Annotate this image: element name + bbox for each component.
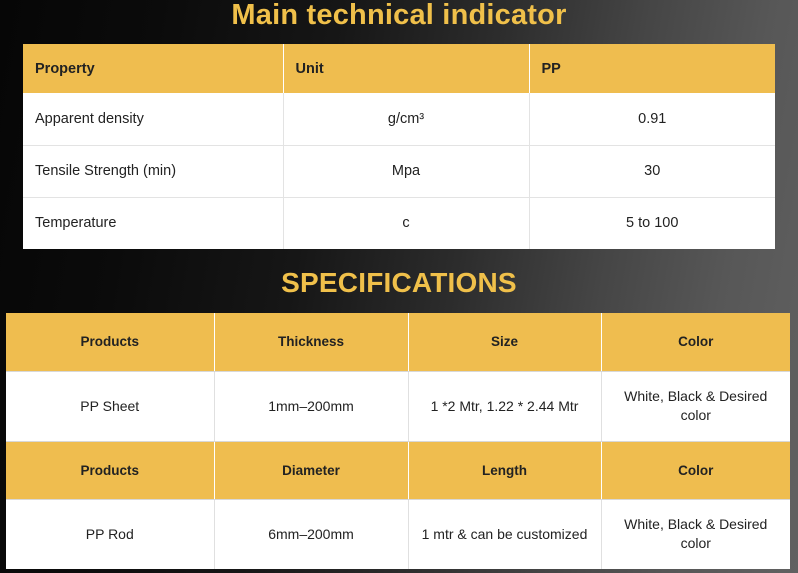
cell-unit: Mpa xyxy=(283,145,529,197)
cell-length: 1 mtr & can be customized xyxy=(408,499,601,569)
specifications-table-container: Products Thickness Size Color PP Sheet 1… xyxy=(6,313,790,569)
cell-pp: 30 xyxy=(529,145,775,197)
column-header-property: Property xyxy=(23,44,283,93)
table-row: Temperature c 5 to 100 xyxy=(23,197,775,249)
column-header-length: Length xyxy=(408,441,601,499)
column-header-products: Products xyxy=(6,313,214,371)
technical-indicator-table-container: Property Unit PP Apparent density g/cm³ … xyxy=(23,44,775,249)
table-header-row: Property Unit PP xyxy=(23,44,775,93)
cell-property: Apparent density xyxy=(23,93,283,145)
cell-unit: c xyxy=(283,197,529,249)
specifications-table: Products Thickness Size Color PP Sheet 1… xyxy=(6,313,790,569)
cell-pp: 5 to 100 xyxy=(529,197,775,249)
cell-product: PP Sheet xyxy=(6,371,214,441)
column-header-size: Size xyxy=(408,313,601,371)
technical-indicator-table: Property Unit PP Apparent density g/cm³ … xyxy=(23,44,775,249)
table-header-row-sheet: Products Thickness Size Color xyxy=(6,313,790,371)
column-header-diameter: Diameter xyxy=(214,441,408,499)
cell-thickness: 1mm–200mm xyxy=(214,371,408,441)
table-header-row-rod: Products Diameter Length Color xyxy=(6,441,790,499)
column-header-thickness: Thickness xyxy=(214,313,408,371)
cell-diameter: 6mm–200mm xyxy=(214,499,408,569)
column-header-color: Color xyxy=(601,313,790,371)
table-row: Tensile Strength (min) Mpa 30 xyxy=(23,145,775,197)
cell-size: 1 *2 Mtr, 1.22 * 2.44 Mtr xyxy=(408,371,601,441)
column-header-color: Color xyxy=(601,441,790,499)
cell-property: Temperature xyxy=(23,197,283,249)
table-row: PP Sheet 1mm–200mm 1 *2 Mtr, 1.22 * 2.44… xyxy=(6,371,790,441)
column-header-pp: PP xyxy=(529,44,775,93)
column-header-unit: Unit xyxy=(283,44,529,93)
cell-unit: g/cm³ xyxy=(283,93,529,145)
page-title-specifications: SPECIFICATIONS xyxy=(0,255,798,307)
table-row: PP Rod 6mm–200mm 1 mtr & can be customiz… xyxy=(6,499,790,569)
cell-product: PP Rod xyxy=(6,499,214,569)
cell-pp: 0.91 xyxy=(529,93,775,145)
table-row: Apparent density g/cm³ 0.91 xyxy=(23,93,775,145)
cell-property: Tensile Strength (min) xyxy=(23,145,283,197)
column-header-products: Products xyxy=(6,441,214,499)
page-title-technical-indicator: Main technical indicator xyxy=(0,0,798,38)
cell-color: White, Black & Desired color xyxy=(601,499,790,569)
cell-color: White, Black & Desired color xyxy=(601,371,790,441)
